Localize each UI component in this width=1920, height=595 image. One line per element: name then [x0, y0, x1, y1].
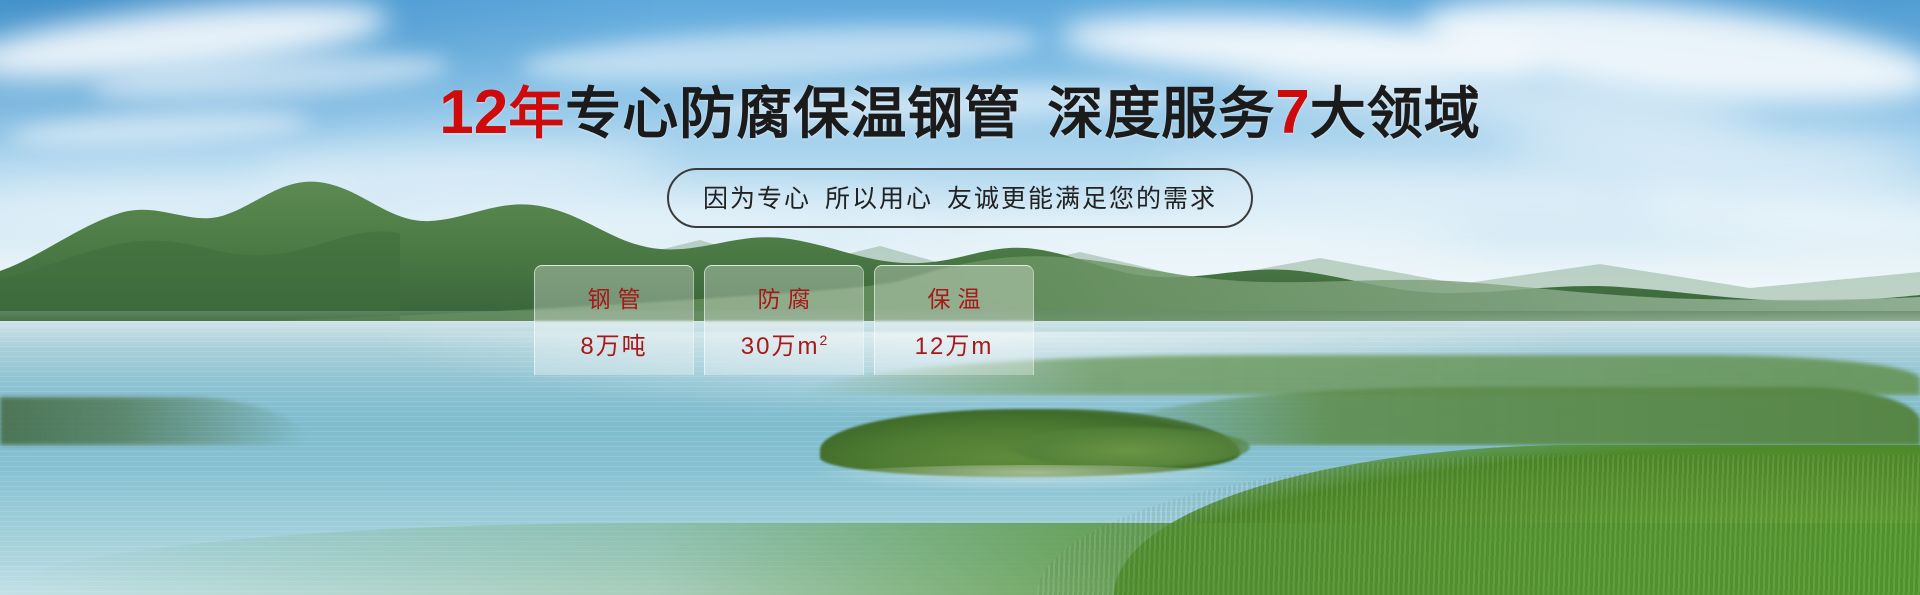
stat-card-title: 防腐: [751, 280, 818, 314]
stat-card-value-text: 30万m: [741, 333, 820, 360]
stat-card-value-text: 12万m: [915, 333, 994, 360]
hero-banner: 12年专心防腐保温钢管深度服务7大领域 因为专心所以用心友诚更能满足您的需求 钢…: [0, 0, 1920, 595]
stat-card-value: 8万吨: [580, 326, 647, 361]
stat-card-value: 12万m: [915, 326, 994, 361]
headline-years-unit: 年: [508, 82, 565, 145]
banner-headline: 12年专心防腐保温钢管深度服务7大领域: [0, 82, 1920, 144]
subtitle-pill-wrapper: 因为专心所以用心友诚更能满足您的需求: [0, 168, 1920, 228]
subtitle-part-3: 友诚更能满足您的需求: [947, 185, 1217, 213]
subtitle-pill: 因为专心所以用心友诚更能满足您的需求: [667, 168, 1253, 228]
banner-content: 12年专心防腐保温钢管深度服务7大领域 因为专心所以用心友诚更能满足您的需求 钢…: [0, 0, 1920, 595]
stat-card-anticorrosion[interactable]: 防腐 30万m2: [704, 265, 864, 375]
stat-card-insulation[interactable]: 保温 12万m: [874, 265, 1034, 375]
stat-card-title: 钢管: [581, 280, 648, 314]
stat-card-value-text: 8万吨: [580, 333, 647, 360]
subtitle-part-2: 所以用心: [825, 185, 933, 213]
stat-card-value: 30万m2: [741, 326, 827, 361]
subtitle-part-1: 因为专心: [703, 185, 811, 213]
headline-fields-suffix: 大领域: [1310, 82, 1481, 145]
headline-second-text: 深度服务: [1047, 82, 1275, 145]
headline-main-text: 专心防腐保温钢管: [565, 82, 1021, 145]
stat-card-value-sup: 2: [819, 332, 827, 348]
headline-fields-number: 7: [1275, 78, 1309, 147]
stat-cards: 钢管 8万吨 防腐 30万m2 保温 12万m: [534, 265, 1034, 375]
stat-card-steel-pipe[interactable]: 钢管 8万吨: [534, 265, 694, 375]
stat-card-title: 保温: [921, 280, 988, 314]
headline-years-number: 12: [439, 78, 508, 147]
